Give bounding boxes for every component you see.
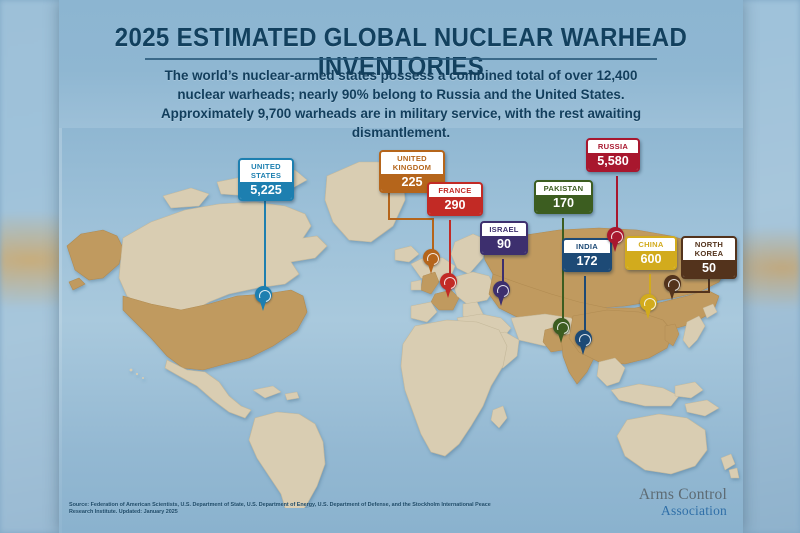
country-name-israel: ISRAEL — [482, 223, 526, 236]
screenshot-root: 2025 ESTIMATED GLOBAL NUCLEAR WARHEAD IN… — [0, 0, 800, 533]
warhead-count-israel: 90 — [482, 236, 526, 253]
country-label-pakistan[interactable]: PAKISTAN170 — [534, 180, 593, 214]
country-name-india: INDIA — [564, 240, 610, 253]
country-label-france[interactable]: FRANCE290 — [427, 182, 483, 216]
map-pin-france[interactable] — [440, 273, 457, 298]
map-pin-china[interactable] — [640, 294, 657, 319]
map-pin-israel[interactable] — [493, 281, 510, 306]
country-name-pakistan: PAKISTAN — [536, 182, 591, 195]
country-name-north-korea: NORTHKOREA — [683, 238, 735, 260]
pin-tail — [579, 342, 587, 355]
pin-tail — [668, 287, 676, 300]
pin-tail — [611, 239, 619, 252]
country-label-china[interactable]: CHINA600 — [625, 236, 677, 270]
marker-layer: UNITEDSTATES5,225UNITEDKINGDOM225FRANCE2… — [59, 0, 743, 533]
country-label-india[interactable]: INDIA172 — [562, 238, 612, 272]
warhead-count-france: 290 — [429, 197, 481, 214]
country-name-united-kingdom: UNITEDKINGDOM — [381, 152, 443, 174]
logo-line-2: Association — [639, 504, 727, 518]
warhead-count-china: 600 — [627, 251, 675, 268]
country-label-north-korea[interactable]: NORTHKOREA50 — [681, 236, 737, 279]
logo-line-1: Arms Control — [639, 487, 727, 503]
warhead-count-pakistan: 170 — [536, 195, 591, 212]
country-label-united-states[interactable]: UNITEDSTATES5,225 — [238, 158, 294, 201]
warhead-count-north-korea: 50 — [683, 260, 735, 277]
map-pin-united-states[interactable] — [255, 286, 272, 311]
country-name-united-states: UNITEDSTATES — [240, 160, 292, 182]
country-name-russia: RUSSIA — [588, 140, 638, 153]
map-pin-russia[interactable] — [607, 227, 624, 252]
country-name-china: CHINA — [627, 238, 675, 251]
map-pin-north-korea[interactable] — [664, 275, 681, 300]
source-note: Source: Federation of American Scientist… — [69, 502, 499, 517]
pin-tail — [444, 285, 452, 298]
warhead-count-united-states: 5,225 — [240, 182, 292, 199]
arms-control-association-logo: Arms Control Association — [639, 487, 727, 517]
pin-tail — [557, 330, 565, 343]
pin-tail — [259, 298, 267, 311]
pin-tail — [644, 306, 652, 319]
map-pin-pakistan[interactable] — [553, 318, 570, 343]
map-pin-india[interactable] — [575, 330, 592, 355]
map-pin-united-kingdom[interactable] — [423, 249, 440, 274]
warhead-count-india: 172 — [564, 253, 610, 270]
country-label-israel[interactable]: ISRAEL90 — [480, 221, 528, 255]
warhead-count-russia: 5,580 — [588, 153, 638, 170]
pin-tail — [497, 293, 505, 306]
infographic-card: 2025 ESTIMATED GLOBAL NUCLEAR WARHEAD IN… — [59, 0, 743, 533]
country-label-russia[interactable]: RUSSIA5,580 — [586, 138, 640, 172]
country-name-france: FRANCE — [429, 184, 481, 197]
pin-tail — [427, 261, 435, 274]
